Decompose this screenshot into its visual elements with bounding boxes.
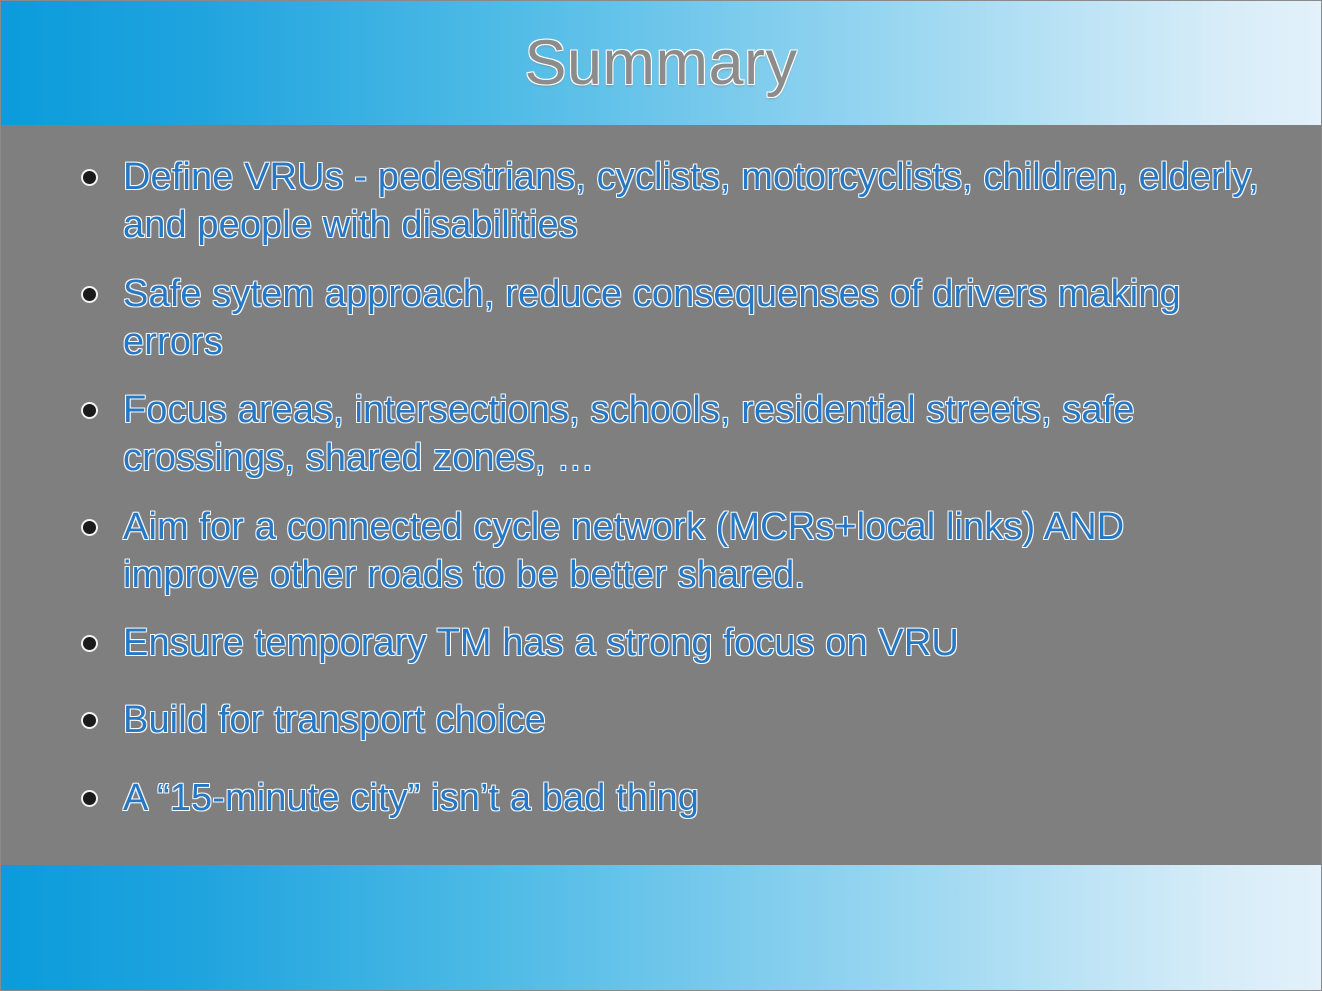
round-bullet-icon (83, 792, 96, 805)
round-bullet-icon (83, 171, 96, 184)
bullet-list: Define VRUs - pedestrians, cyclists, mot… (1, 125, 1321, 867)
bottom-decorative-band (1, 865, 1321, 990)
list-item: Focus areas, intersections, schools, res… (61, 386, 1261, 483)
list-item-label: Focus areas, intersections, schools, res… (123, 386, 1261, 483)
top-decorative-band (1, 1, 1321, 125)
list-item-label: Define VRUs - pedestrians, cyclists, mot… (123, 153, 1261, 250)
round-bullet-icon (83, 288, 96, 301)
list-item: Build for transport choice (61, 696, 1261, 744)
list-item: A “15-minute city” isn’t a bad thing (61, 774, 1261, 822)
presentation-slide: Summary Define VRUs - pedestrians, cycli… (0, 0, 1322, 991)
list-item-label: Build for transport choice (123, 696, 1261, 744)
list-item: Aim for a connected cycle network (MCRs+… (61, 503, 1261, 600)
round-bullet-icon (83, 637, 96, 650)
list-item: Ensure temporary TM has a strong focus o… (61, 619, 1261, 667)
round-bullet-icon (83, 714, 96, 727)
list-item-label: Safe sytem approach, reduce consequenses… (123, 270, 1261, 367)
round-bullet-icon (83, 521, 96, 534)
list-item: Define VRUs - pedestrians, cyclists, mot… (61, 153, 1261, 250)
list-item: Safe sytem approach, reduce consequenses… (61, 270, 1261, 367)
list-item-label: Ensure temporary TM has a strong focus o… (123, 619, 1261, 667)
list-item-label: A “15-minute city” isn’t a bad thing (123, 774, 1261, 822)
round-bullet-icon (83, 404, 96, 417)
list-item-label: Aim for a connected cycle network (MCRs+… (123, 503, 1261, 600)
